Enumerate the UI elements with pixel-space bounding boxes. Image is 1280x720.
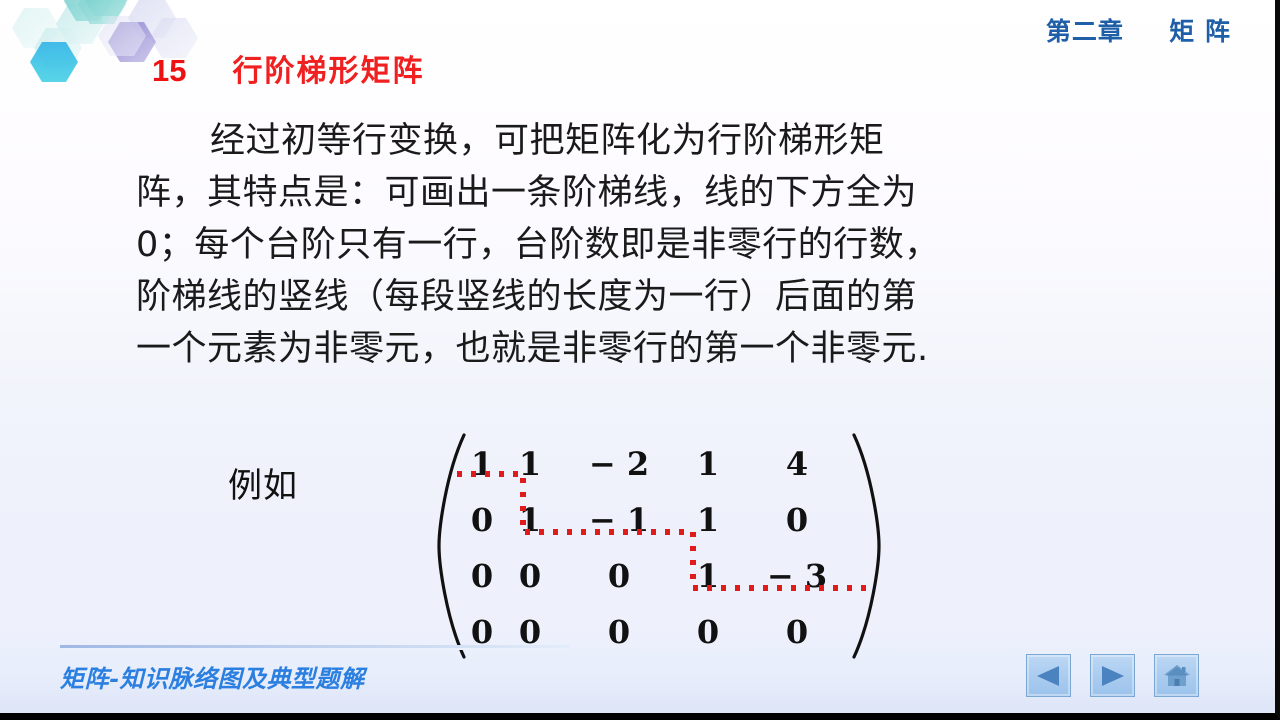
matrix-cell: 0 bbox=[732, 492, 862, 548]
previous-slide-button[interactable] bbox=[1026, 654, 1071, 697]
matrix-row: 1 1 − 2 1 4 bbox=[458, 436, 862, 492]
matrix-row: 0 1 − 1 1 0 bbox=[458, 492, 862, 548]
home-icon bbox=[1163, 663, 1191, 688]
matrix-cell: 0 bbox=[732, 604, 862, 660]
matrix-cell: 1 bbox=[506, 492, 554, 548]
matrix-row: 0 0 0 0 0 bbox=[458, 604, 862, 660]
matrix-cell: 0 bbox=[684, 604, 732, 660]
matrix-cell: 0 bbox=[458, 492, 506, 548]
chapter-name: 矩 阵 bbox=[1169, 17, 1231, 46]
matrix-cell: − 2 bbox=[554, 436, 684, 492]
paragraph-content: 经过初等行变换，可把矩阵化为行阶梯形矩阵，其特点是：可画出一条阶梯线，线的下方全… bbox=[136, 121, 940, 369]
example-label: 例如 bbox=[228, 458, 298, 507]
forward-triangle-icon bbox=[1099, 664, 1126, 688]
matrix-cell: 1 bbox=[684, 436, 732, 492]
echelon-matrix: 1 1 − 2 1 4 0 1 − 1 1 0 0 0 0 1 bbox=[458, 436, 862, 660]
footer-divider bbox=[60, 645, 570, 649]
footer-text: 矩阵-知识脉络图及典型题解 bbox=[60, 659, 364, 694]
matrix-cell: 4 bbox=[732, 436, 862, 492]
chapter-heading: 第二章 矩 阵 bbox=[1046, 12, 1231, 48]
title-number: 15 bbox=[152, 53, 186, 89]
matrix-cell: 0 bbox=[506, 604, 554, 660]
title-text: 行阶梯形矩阵 bbox=[232, 46, 424, 90]
matrix-cell: 1 bbox=[458, 436, 506, 492]
chapter-label: 第二章 bbox=[1046, 17, 1124, 46]
matrix-container: 1 1 − 2 1 4 0 1 − 1 1 0 0 0 0 1 bbox=[434, 432, 884, 660]
matrix-row: 0 0 0 1 − 3 bbox=[458, 548, 862, 604]
matrix-cell: 0 bbox=[458, 604, 506, 660]
next-slide-button[interactable] bbox=[1090, 654, 1135, 697]
matrix-cell: − 3 bbox=[732, 548, 862, 604]
matrix-cell: 0 bbox=[554, 604, 684, 660]
home-button[interactable] bbox=[1154, 654, 1199, 697]
matrix-cell: 0 bbox=[506, 548, 554, 604]
body-paragraph: 经过初等行变换，可把矩阵化为行阶梯形矩阵，其特点是：可画出一条阶梯线，线的下方全… bbox=[136, 115, 946, 375]
matrix-cell: 0 bbox=[458, 548, 506, 604]
slide-canvas: 第二章 矩 阵 15 行阶梯形矩阵 经过初等行变换，可把矩阵化为行阶梯形矩阵，其… bbox=[0, 0, 1280, 720]
navigation-bar bbox=[1026, 654, 1199, 697]
matrix-cell: 1 bbox=[684, 548, 732, 604]
matrix-cell: − 1 bbox=[554, 492, 684, 548]
page-title: 15 行阶梯形矩阵 bbox=[152, 46, 424, 90]
matrix-cell: 1 bbox=[684, 492, 732, 548]
matrix-cell: 0 bbox=[554, 548, 684, 604]
back-triangle-icon bbox=[1035, 664, 1062, 688]
matrix-cell: 1 bbox=[506, 436, 554, 492]
